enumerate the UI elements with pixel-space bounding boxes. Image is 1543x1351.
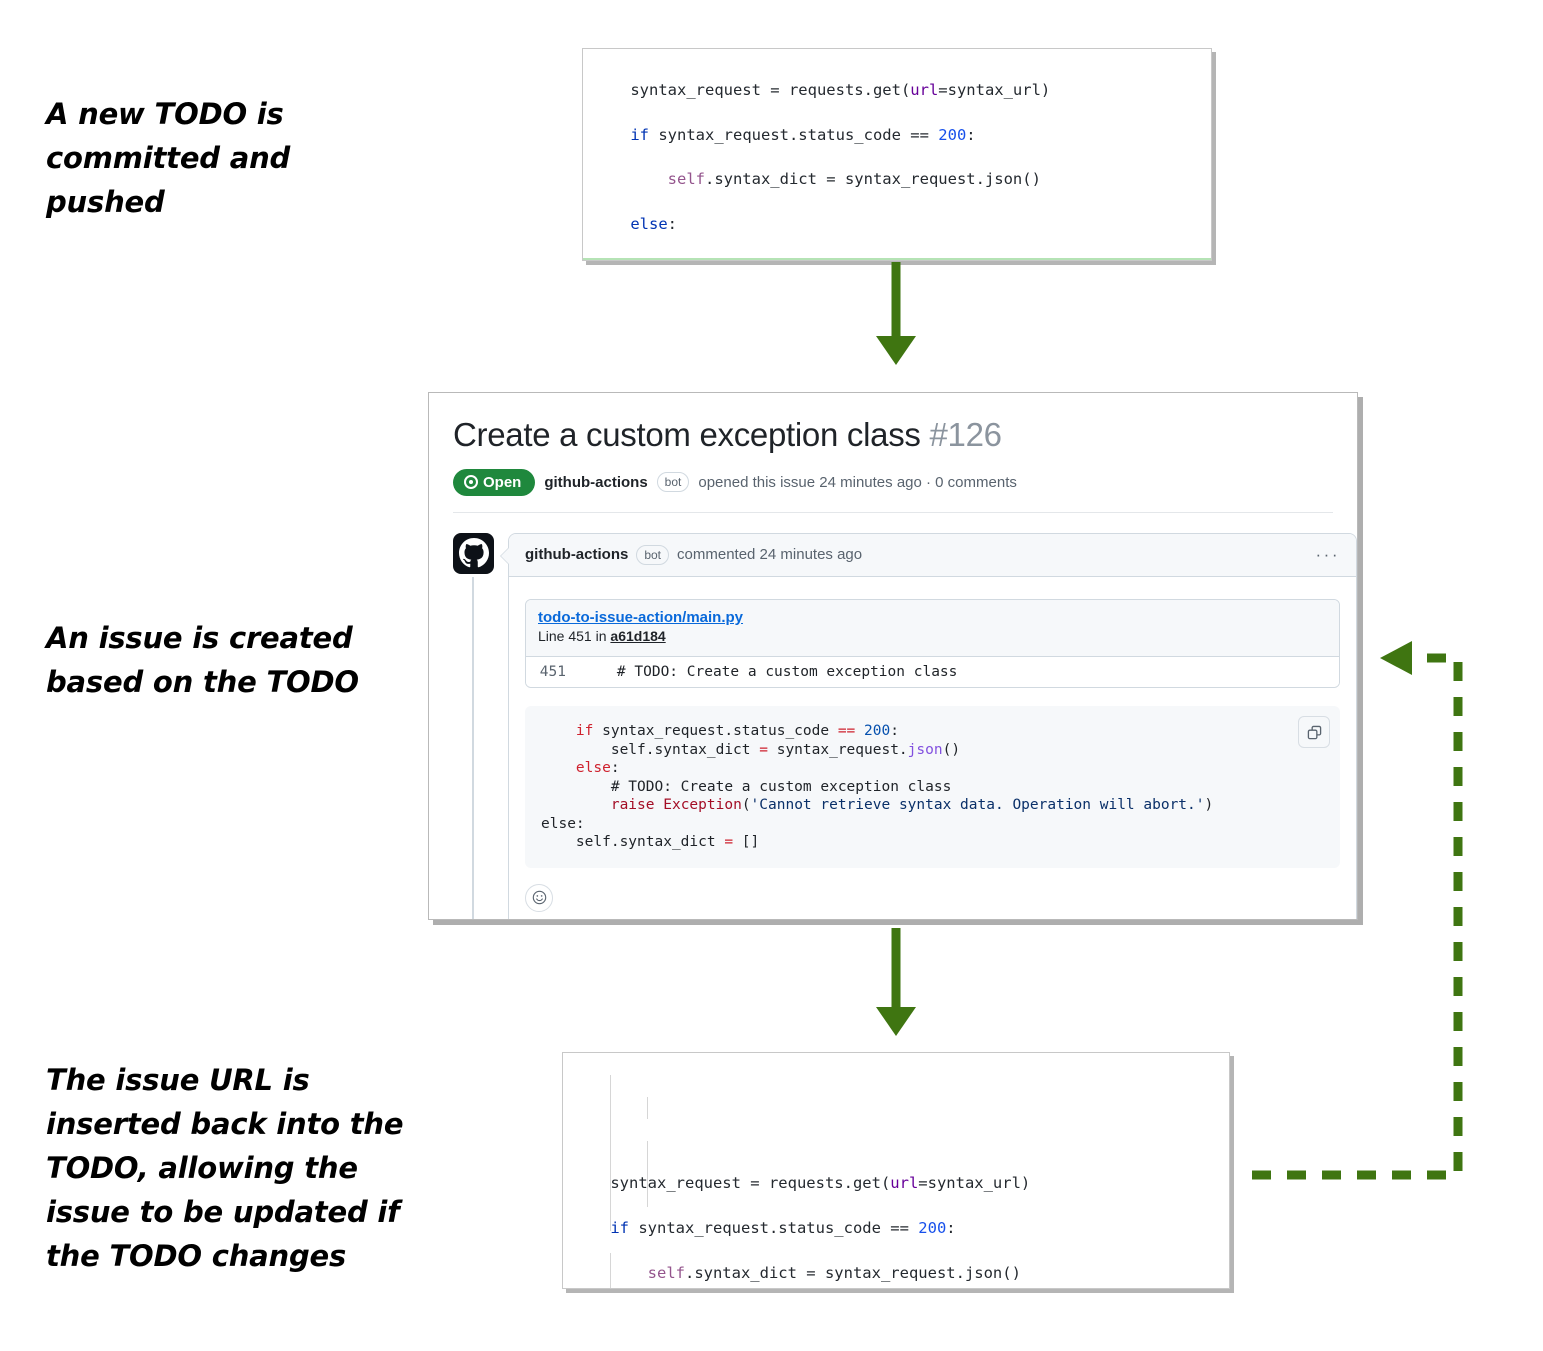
feedback-loop-arrow — [1212, 630, 1482, 1190]
code-line: else: — [583, 213, 1211, 235]
comment-header: github-actions bot commented 24 minutes … — [509, 534, 1356, 577]
comment-meta: commented 24 minutes ago — [677, 546, 862, 563]
comment-author[interactable]: github-actions — [525, 546, 628, 563]
code-line: syntax_request = requests.get(url=syntax… — [583, 79, 1211, 101]
indent-guide — [647, 1097, 648, 1119]
code-line: else: — [541, 816, 585, 832]
comment-bot-badge: bot — [636, 545, 669, 565]
caption-issue-url-inserted: The issue URL is inserted back into the … — [46, 1058, 406, 1278]
code-line: if syntax_request.status_code == 200: — [583, 124, 1211, 146]
issue-author[interactable]: github-actions — [544, 474, 647, 491]
code-line: syntax_request = requests.get(url=syntax… — [563, 1172, 1229, 1194]
code-panel-after: syntax_request = requests.get(url=syntax… — [562, 1052, 1230, 1289]
kebab-menu-icon[interactable]: ··· — [1316, 546, 1340, 563]
permalink-line-prefix: Line 451 in — [538, 628, 610, 644]
code-line: self.syntax_dict = syntax_request.json() — [541, 742, 960, 758]
caption-issue-created: An issue is created based on the TODO — [46, 616, 386, 704]
issue-number: #126 — [929, 416, 1001, 453]
issue-open-icon — [464, 475, 478, 489]
code-lines-after: syntax_request = requests.get(url=syntax… — [563, 1053, 1229, 1289]
github-octocat-icon — [459, 538, 489, 568]
timeline-rail — [472, 577, 474, 920]
code-panel-before: syntax_request = requests.get(url=syntax… — [582, 48, 1212, 261]
status-badge-open[interactable]: Open — [453, 469, 535, 496]
code-line: raise Exception('Cannot retrieve syntax … — [541, 797, 1213, 813]
bot-badge: bot — [657, 472, 690, 492]
code-line: self.syntax_dict = syntax_request.json() — [563, 1262, 1229, 1284]
add-reaction-button[interactable] — [525, 884, 553, 912]
issue-subheader: Open github-actions bot opened this issu… — [453, 469, 1333, 513]
code-lines-before: syntax_request = requests.get(url=syntax… — [583, 49, 1211, 261]
indent-guide — [610, 1075, 611, 1231]
smiley-icon — [532, 890, 547, 905]
permalink-commit-sha[interactable]: a61d184 — [610, 628, 665, 644]
issue-title-text: Create a custom exception class — [453, 416, 921, 453]
issue-header: Create a custom exception class #126 Ope… — [429, 393, 1357, 513]
arrow-down-to-updated-code — [846, 928, 946, 1038]
code-line: # TODO: Create a custom exception class — [541, 779, 951, 795]
code-line: else: — [541, 760, 620, 776]
arrow-down-to-issue — [846, 262, 946, 366]
code-line: if syntax_request.status_code == 200: — [563, 1217, 1229, 1239]
issue-opened-meta: opened this issue 24 minutes ago · 0 com… — [698, 474, 1017, 491]
permalink-file-link[interactable]: todo-to-issue-action/main.py — [538, 608, 1327, 628]
code-line: if syntax_request.status_code == 200: — [541, 723, 899, 739]
avatar[interactable] — [453, 533, 494, 574]
code-line: self.syntax_dict = [] — [541, 834, 759, 850]
caption-todo-committed: A new TODO is committed and pushed — [46, 92, 356, 224]
permalink-line-source: # TODO: Create a custom exception class — [582, 664, 957, 680]
issue-title: Create a custom exception class #126 — [453, 415, 1333, 455]
permalink-line-info: Line 451 in a61d184 — [538, 628, 666, 644]
code-line: self.syntax_dict = syntax_request.json() — [583, 168, 1211, 190]
status-badge-label: Open — [483, 475, 521, 490]
permalink-line-number: 451 — [526, 664, 582, 680]
code-line-highlighted: # TODO: Create a custom exception class — [583, 258, 1211, 261]
